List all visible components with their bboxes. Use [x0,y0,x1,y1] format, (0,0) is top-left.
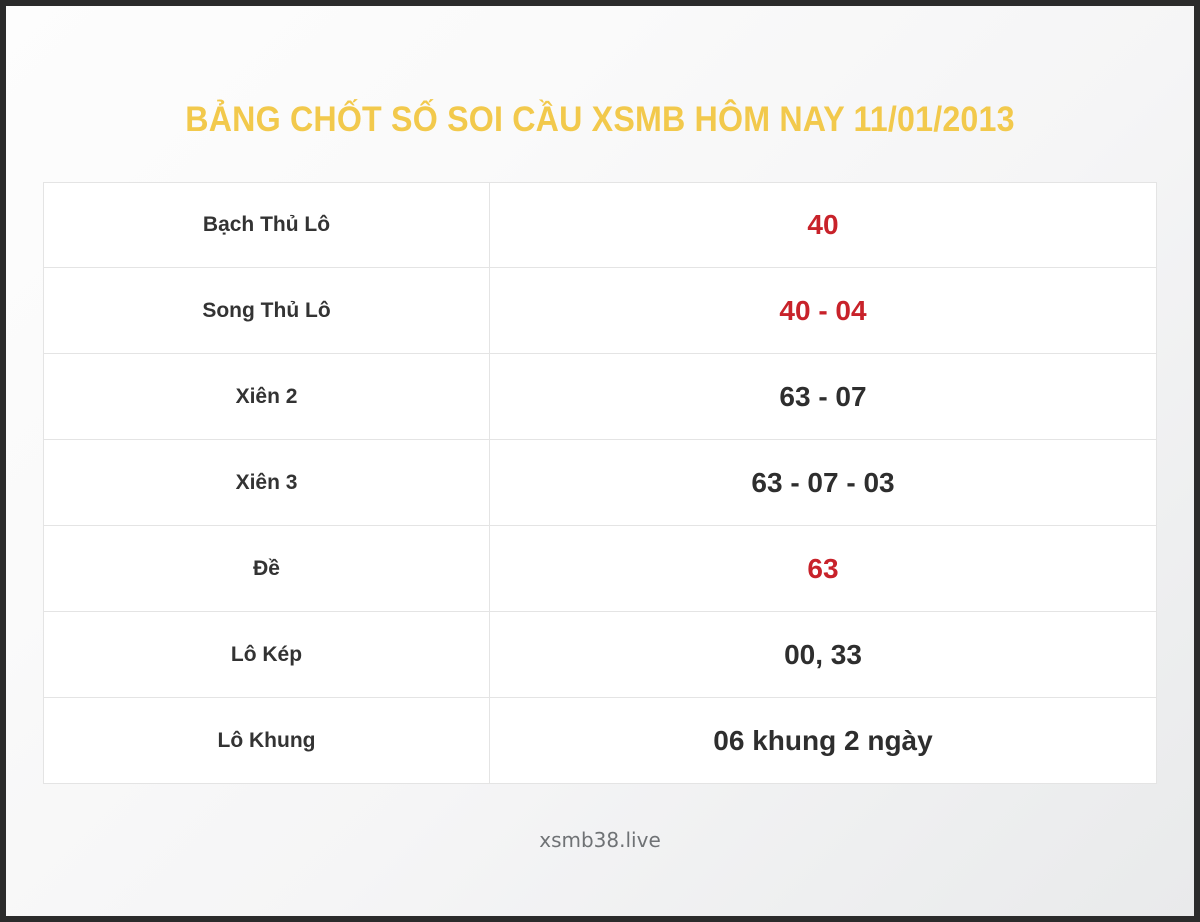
row-value: 40 [489,182,1157,268]
site-watermark: xsmb38.live [6,828,1194,852]
row-value: 00, 33 [489,612,1157,698]
row-value: 06 khung 2 ngày [489,698,1157,784]
row-value: 63 [489,526,1157,612]
table-row: Bạch Thủ Lô40 [43,182,1157,268]
row-value: 63 - 07 [489,354,1157,440]
table-row: Xiên 363 - 07 - 03 [43,440,1157,526]
table-row: Xiên 263 - 07 [43,354,1157,440]
row-label: Bạch Thủ Lô [43,182,489,268]
row-label: Xiên 2 [43,354,489,440]
row-value: 40 - 04 [489,268,1157,354]
table-row: Song Thủ Lô40 - 04 [43,268,1157,354]
page-title: BẢNG CHỐT SỐ SOI CẦU XSMB HÔM NAY 11/01/… [54,100,1147,140]
prediction-table: Bạch Thủ Lô40Song Thủ Lô40 - 04Xiên 263 … [43,182,1157,784]
row-label: Lô Khung [43,698,489,784]
table-row: Lô Kép00, 33 [43,612,1157,698]
row-label: Đề [43,526,489,612]
row-label: Song Thủ Lô [43,268,489,354]
table-row: Đề63 [43,526,1157,612]
row-label: Xiên 3 [43,440,489,526]
row-value: 63 - 07 - 03 [489,440,1157,526]
row-label: Lô Kép [43,612,489,698]
table-row: Lô Khung06 khung 2 ngày [43,698,1157,784]
page-frame: BẢNG CHỐT SỐ SOI CẦU XSMB HÔM NAY 11/01/… [6,6,1194,916]
